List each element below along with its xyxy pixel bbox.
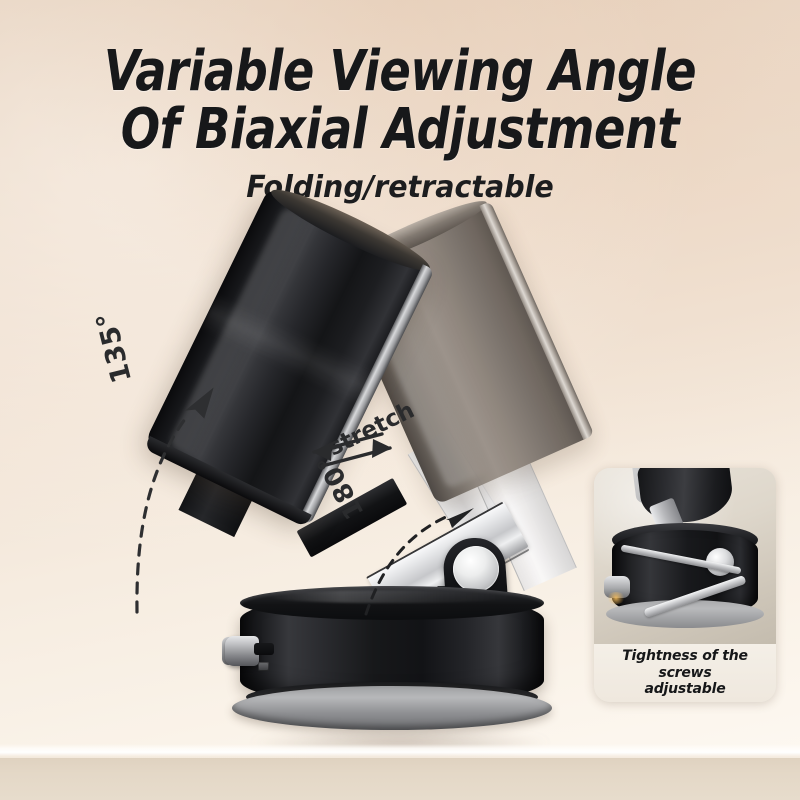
lamp-base	[232, 586, 552, 736]
subheadline: Folding/retractable	[20, 170, 780, 205]
inset-lamp-head	[637, 468, 736, 527]
base-knob-slot	[254, 643, 274, 655]
detail-inset-photo	[594, 468, 776, 650]
base-grey-ring	[232, 686, 552, 730]
base-top-sheen	[266, 590, 516, 603]
detail-inset-card: Tightness of the screws adjustable	[594, 468, 776, 702]
inset-caption-line-1: Tightness of the screws	[594, 648, 776, 681]
headline-line-2: Of Biaxial Adjustment	[32, 102, 768, 158]
product-marketing-image: Variable Viewing Angle Of Biaxial Adjust…	[0, 0, 800, 800]
inset-knob-glow	[606, 592, 626, 604]
detail-inset-caption: Tightness of the screws adjustable	[594, 644, 776, 702]
inset-caption-line-2: adjustable	[644, 681, 725, 698]
base-screw	[258, 662, 269, 671]
headline-line-1: Variable Viewing Angle	[32, 44, 768, 100]
table-surface	[0, 758, 800, 800]
